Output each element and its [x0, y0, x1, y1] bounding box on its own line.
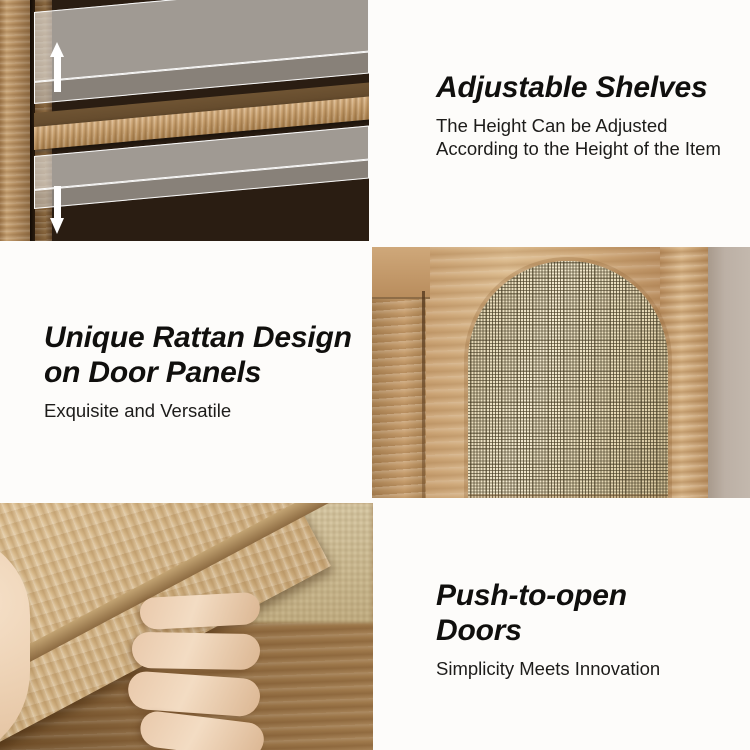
- rattan-door-panels-text: Unique Rattan Design on Door Panels Exqu…: [44, 320, 374, 422]
- rattan-door-photo: [372, 247, 750, 498]
- cabinet-side-panel: [372, 295, 426, 498]
- ghost-shelf-upper: [34, 0, 369, 82]
- middle-finger: [132, 632, 261, 670]
- arrow-down-head: [50, 218, 64, 234]
- arrow-up-stem: [54, 55, 61, 92]
- push-to-open-text: Push-to-open Doors Simplicity Meets Inno…: [436, 578, 736, 680]
- arrow-down-icon: [50, 186, 65, 234]
- product-feature-infographic: Adjustable Shelves The Height Can be Adj…: [0, 0, 750, 750]
- adjustable-shelves-text: Adjustable Shelves The Height Can be Adj…: [436, 70, 736, 160]
- feature-2-headline: Unique Rattan Design on Door Panels: [44, 320, 374, 390]
- feature-1-headline: Adjustable Shelves: [436, 70, 736, 105]
- feature-2-subtitle: Exquisite and Versatile: [44, 399, 374, 422]
- index-finger: [139, 592, 261, 630]
- door-seam: [422, 291, 425, 498]
- feature-3-subtitle: Simplicity Meets Innovation: [436, 657, 736, 680]
- cabinet-frame-left: [0, 0, 30, 241]
- background-wall: [708, 247, 750, 498]
- feature-1-subtitle: The Height Can be Adjusted According to …: [436, 114, 736, 160]
- arrow-down-stem: [54, 186, 61, 220]
- arrow-up-icon: [50, 42, 65, 92]
- adjustable-shelves-photo: [0, 0, 369, 241]
- feature-3-headline: Push-to-open Doors: [436, 578, 736, 648]
- push-to-open-photo: [0, 503, 373, 750]
- rattan-arch-frame: [464, 257, 672, 498]
